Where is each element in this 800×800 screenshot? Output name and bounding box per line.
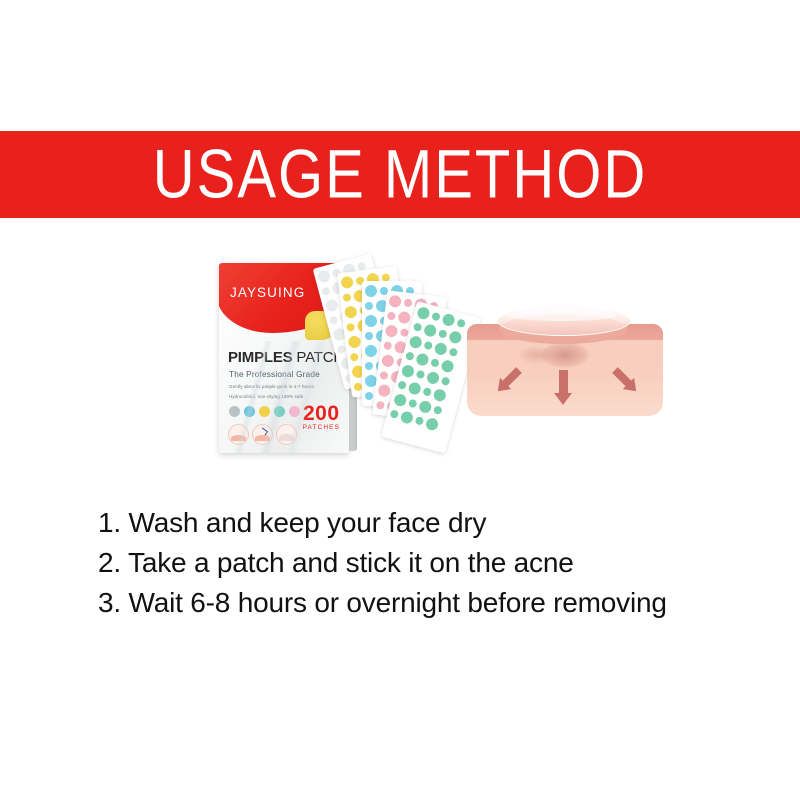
patch-dot xyxy=(365,302,373,310)
patch-dot xyxy=(385,324,398,337)
patch-dot xyxy=(422,387,432,397)
skin-cross-section-with-patch xyxy=(463,300,667,422)
patch-dot xyxy=(416,306,431,321)
patch-sheets-fan xyxy=(336,253,466,463)
box-feature-badges xyxy=(228,424,297,445)
patch-dot xyxy=(365,285,377,297)
swatch-blue xyxy=(244,406,255,417)
patch-dot xyxy=(448,330,463,345)
patch-dot xyxy=(426,371,441,386)
patch-dot xyxy=(433,405,443,415)
patch-dot xyxy=(415,352,430,367)
patch-dot xyxy=(380,371,389,380)
box-subtitle: The Professional Grade xyxy=(229,370,320,379)
patch-dot xyxy=(433,342,448,357)
patch-dot xyxy=(398,311,411,324)
patch-dot xyxy=(418,400,433,415)
patch-dot xyxy=(365,332,373,340)
patch-dot xyxy=(431,312,441,322)
patch-dot xyxy=(415,416,425,426)
patch-dot xyxy=(397,380,407,390)
patch-dot xyxy=(432,388,447,403)
patch-count-number: 200 xyxy=(303,404,340,424)
page-title: USAGE METHOD xyxy=(153,140,648,208)
patch-dot xyxy=(321,286,331,296)
patch-dot xyxy=(389,409,399,419)
patch-dot xyxy=(346,323,355,332)
usage-step-2: 2. Take a patch and stick it on the acne xyxy=(98,543,718,583)
box-color-swatches xyxy=(229,406,300,417)
patch-count-label: PATCHES xyxy=(303,424,340,431)
patch-dot xyxy=(388,295,401,308)
patch-dot xyxy=(337,344,347,354)
patch-layer-icon xyxy=(276,424,297,445)
brand-logo-text: JAYSUING xyxy=(230,285,305,300)
patch-dot xyxy=(423,323,438,338)
patch-dot xyxy=(404,298,413,307)
night-use-icon xyxy=(252,424,273,445)
patch-dot xyxy=(383,341,392,350)
patch-dot xyxy=(423,341,433,351)
patch-dot xyxy=(365,362,373,370)
acne-blemish-secondary xyxy=(519,346,553,364)
patch-dot xyxy=(393,393,408,408)
usage-method-banner: USAGE METHOD xyxy=(0,131,800,218)
patch-dot xyxy=(350,353,359,362)
skin-absorb-icon xyxy=(228,424,249,445)
patch-dot xyxy=(448,347,458,357)
box-product-title: PIMPLES PATCH xyxy=(228,349,344,366)
patch-dot xyxy=(344,306,357,319)
patch-dot xyxy=(438,329,448,339)
patch-dot xyxy=(401,364,416,379)
usage-steps-list: 1. Wash and keep your face dry 2. Take a… xyxy=(98,503,718,623)
patch-dot xyxy=(329,315,339,325)
patch-dot xyxy=(425,417,440,432)
patch-dot xyxy=(430,358,440,368)
patch-dot xyxy=(387,311,396,320)
usage-step-3: 3. Wait 6-8 hours or overnight before re… xyxy=(98,583,718,623)
hero-illustration-area: JAYSUING PIMPLES PATCH The Professional … xyxy=(0,245,800,475)
patch-dot xyxy=(317,269,332,284)
patch-gloss-highlight xyxy=(507,310,617,321)
box-fine-print-2: Hydrocolloid, non-drying 100% safe xyxy=(229,394,303,399)
patch-dot xyxy=(408,399,418,409)
patch-dot xyxy=(348,335,361,348)
patch-dot xyxy=(324,298,339,313)
patch-dot xyxy=(378,384,391,397)
box-fine-print-1: Gently absorbs pimple gunk in 4-7 hours. xyxy=(229,384,315,389)
patch-dot xyxy=(376,401,385,410)
patch-dot xyxy=(405,351,415,361)
patch-dot xyxy=(365,345,377,357)
patch-dot xyxy=(381,354,394,367)
patch-dot xyxy=(440,359,455,374)
patch-dot xyxy=(400,410,415,425)
patch-dot xyxy=(343,293,352,302)
patch-dot xyxy=(340,276,353,289)
patch-dot xyxy=(441,313,456,328)
box-title-bold: PIMPLES xyxy=(228,349,292,366)
usage-step-1: 1. Wash and keep your face dry xyxy=(98,503,718,543)
patch-dot xyxy=(441,376,451,386)
patch-dot xyxy=(365,315,377,327)
patch-dot xyxy=(365,392,373,400)
patch-dot xyxy=(407,381,422,396)
patch-dot xyxy=(413,322,423,332)
swatch-teal xyxy=(274,406,285,417)
swatch-gray xyxy=(229,406,240,417)
swatch-yellow xyxy=(259,406,270,417)
patch-dot xyxy=(408,335,423,350)
patch-dot xyxy=(416,370,426,380)
box-patch-count: 200 PATCHES xyxy=(303,404,340,431)
swatch-pink xyxy=(289,406,300,417)
